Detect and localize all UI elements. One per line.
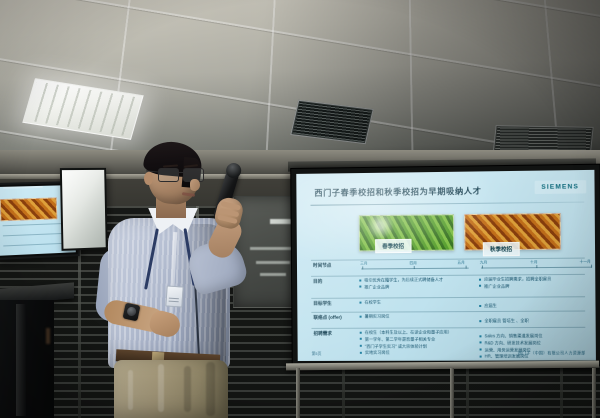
monitor-photo (0, 197, 57, 221)
bullet: 实地实习岗位 (360, 350, 474, 356)
presentation-photo-scene: SIEMENS 西门子春季校招和秋季校招为早期吸纳人才 SIEMENS 春季校招… (0, 0, 600, 418)
row-label: 招聘需求 (313, 331, 355, 337)
tick-label: 十一月 (580, 260, 591, 265)
bullet: "西门子学生实习" 或大宗体验计划 (360, 343, 474, 349)
podium-stem (16, 304, 26, 416)
id-badge (165, 285, 183, 307)
tick-label: 三月 (360, 261, 367, 266)
screen-leg (592, 368, 596, 418)
spring-photo-caption: 春季校招 (375, 239, 411, 253)
tick-label: 四月 (410, 261, 417, 266)
screen-leg (450, 368, 454, 418)
bullet: R&D 方向、研发技术发展岗位 (479, 340, 594, 346)
podium-highlight (46, 328, 50, 344)
table-row: 联络点 (offer) 暑期实习岗位 全职雇员 管培生 、全职 (311, 311, 585, 328)
microphone-head (224, 161, 243, 180)
glasses-bridge (177, 172, 183, 173)
bullet: 应届毕业生招聘需求，招聘全职雇员 (479, 276, 594, 282)
slide-title: 西门子春季校招和秋季校招为早期吸纳人才 (314, 185, 514, 199)
row-label: 联络点 (offer) (313, 315, 355, 321)
row-label: 目的 (313, 279, 355, 285)
bullet: 暑期实习岗位 (360, 313, 474, 319)
siemens-logo-monitor: SIEMENS (3, 185, 42, 189)
tick-label: 五月 (457, 261, 464, 266)
tick-label: 九月 (480, 260, 487, 265)
bullet: Sales 方向、销售渠道发展岗位 (479, 333, 594, 339)
table-row: 时间节点 三月 四月 五月 九 (311, 258, 585, 276)
bullet: 应届生 (479, 302, 594, 308)
row-autumn-cell: 应届生 (479, 302, 594, 310)
bullet: 在校生（本科生及以上、在读企业和量子应用） (360, 329, 474, 335)
title-divider (311, 202, 585, 206)
glasses-lens (158, 168, 179, 182)
table-row: 目标学生 在校学生 应届生 (311, 296, 585, 312)
row-autumn-cell: 九月 十月 十一月 (479, 260, 594, 261)
row-label: 时间节点 (313, 262, 355, 268)
row-label: 目标学生 (313, 301, 355, 307)
bullet: 吸引优秀在籍学生，为后续正式聘储备人才 (359, 277, 473, 283)
presenter (94, 146, 274, 418)
row-spring-cell: 在校学生 (359, 299, 473, 307)
slide-table: 时间节点 三月 四月 五月 九 (311, 258, 586, 345)
presenter-pants (114, 360, 228, 418)
row-autumn-cell: 全职雇员 管培生 、全职 (479, 318, 594, 325)
slide-page-number: 第5页 (312, 352, 322, 357)
row-autumn-cell: Sales 方向、销售渠道发展岗位 R&D 方向、研发技术发展岗位 运营、用务运… (479, 333, 595, 361)
row-autumn-cell: 应届毕业生招聘需求，招聘全职雇员 推广企业品牌 (479, 276, 594, 291)
bullet: 推广企业品牌 (359, 284, 473, 290)
row-spring-cell: 在校生（本科生及以上、在读企业和量子应用） 第一学年、第二学年是否量子相关专业 … (360, 329, 474, 357)
row-spring-cell: 三月 四月 五月 (359, 261, 473, 262)
siemens-logo: SIEMENS (534, 180, 586, 194)
podium (0, 286, 74, 418)
table-row: 目的 吸引优秀在籍学生，为后续正式聘储备人才 推广企业品牌 应届毕业生招聘需求，… (311, 274, 585, 298)
autumn-photo-caption: 秋季校招 (483, 242, 520, 257)
podium-body (0, 300, 54, 418)
tick-label: 十月 (530, 260, 537, 265)
bullet: 第一学年、第二学年是否量子相关专业 (360, 336, 474, 342)
bullet: 推广企业品牌 (479, 283, 594, 289)
slide-surface: 西门子春季校招和秋季校招为早期吸纳人才 SIEMENS 春季校招 秋季校招 时间… (296, 170, 596, 361)
slide-footer: 西门子（中国）有限公司人力资源部 (518, 351, 586, 356)
row-spring-cell: 吸引优秀在籍学生，为后续正式聘储备人才 推广企业品牌 (359, 277, 473, 291)
projection-screen: 西门子春季校招和秋季校招为早期吸纳人才 SIEMENS 春季校招 秋季校招 时间… (290, 164, 600, 366)
presenter-ear (144, 172, 153, 185)
screen-leg (296, 368, 300, 418)
bullet: 全职雇员 管培生 、全职 (479, 318, 594, 324)
bullet: 在校学生 (359, 299, 473, 305)
presenter-nose (190, 179, 200, 191)
row-spring-cell: 暑期实习岗位 (360, 313, 474, 320)
